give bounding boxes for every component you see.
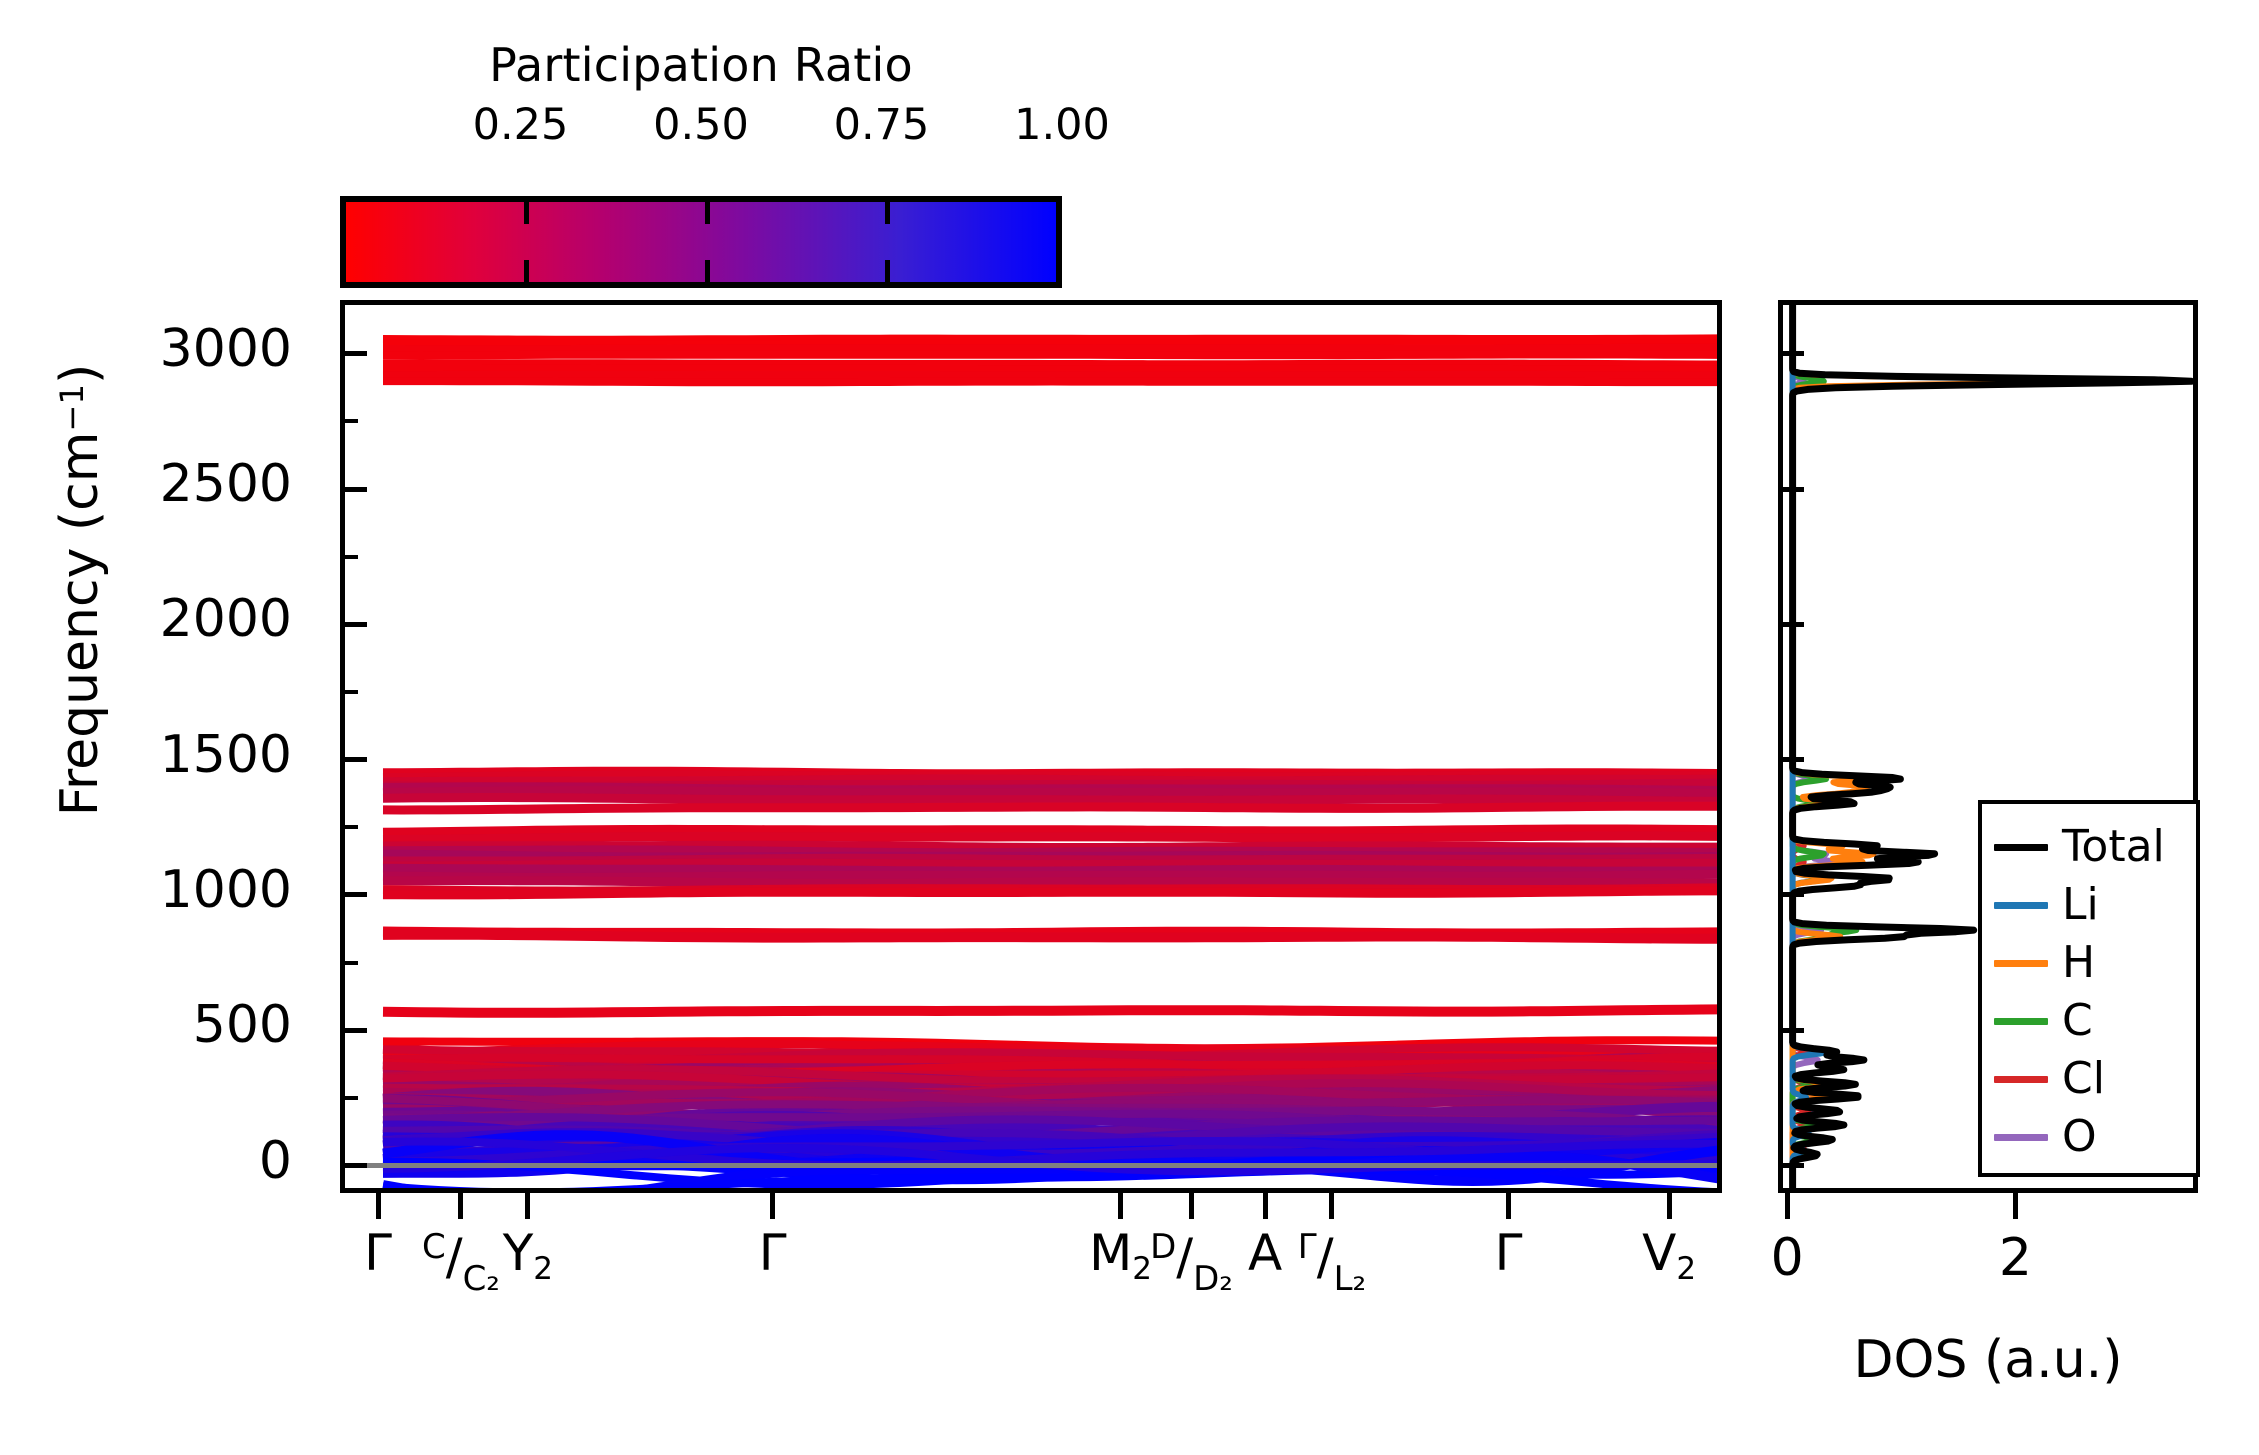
band-curve — [383, 836, 1721, 840]
dos-tick-mark — [2013, 1193, 2018, 1219]
dos-tick-label: 2 — [1999, 1228, 2032, 1288]
figure-canvas: Participation Ratio 0.250.500.751.00 050… — [0, 0, 2259, 1455]
kpath-tick-label: C/C₂ — [422, 1228, 500, 1282]
kpath-tick-mark — [1329, 1193, 1334, 1219]
dos-tick-marks — [1778, 1193, 2198, 1223]
band-curve — [383, 829, 1721, 832]
frequency-tick-label: 2500 — [160, 454, 292, 514]
dos-frequency-tick — [1782, 1028, 1804, 1033]
frequency-tick-mark — [345, 757, 367, 762]
legend-label: Li — [2062, 883, 2099, 927]
frequency-tick-mark — [345, 1163, 367, 1168]
kpath-tick-label: M2 — [1089, 1228, 1152, 1278]
frequency-minor-tick — [345, 419, 358, 423]
colorbar-tick-labels: 0.250.500.751.00 — [340, 100, 1062, 150]
kpath-tick-label: Y2 — [503, 1228, 553, 1278]
band-curve — [383, 375, 1721, 376]
band-curve — [383, 891, 1721, 895]
frequency-minor-tick — [345, 690, 358, 694]
legend-swatch-c — [1994, 1018, 2048, 1025]
dos-legend: TotalLiHCClO — [1978, 800, 2200, 1177]
legend-swatch-o — [1994, 1134, 2048, 1141]
band-curve — [383, 868, 1721, 871]
kpath-tick-label: A — [1248, 1228, 1282, 1278]
frequency-tick-label: 500 — [193, 995, 292, 1055]
dos-tick-labels: 02 — [1778, 1228, 2198, 1298]
dos-tick-label: 0 — [1771, 1228, 1804, 1288]
frequency-minor-tick — [345, 1096, 358, 1100]
dos-frequency-tick — [1782, 351, 1804, 356]
colorbar-tick — [524, 202, 529, 224]
kpath-tick-mark — [1667, 1193, 1672, 1219]
phonon-band-structure-panel — [340, 300, 1722, 1193]
band-curve — [383, 791, 1721, 794]
kpath-tick-marks — [340, 1193, 1722, 1223]
legend-item-total[interactable]: Total — [1982, 818, 2196, 876]
colorbar-tick-label: 0.75 — [834, 100, 930, 150]
colorbar-frame — [340, 196, 1062, 288]
frequency-tick-mark — [345, 487, 367, 492]
band-curve — [383, 381, 1721, 382]
frequency-tick-mark — [345, 622, 367, 627]
legend-label: H — [2062, 941, 2095, 985]
band-curve — [383, 363, 1721, 364]
frequency-tick-mark — [345, 1028, 367, 1033]
legend-item-cl[interactable]: Cl — [1982, 1050, 2196, 1108]
frequency-minor-tick — [345, 555, 358, 559]
kpath-tick-label: Γ — [759, 1228, 787, 1278]
participation-ratio-colorbar — [340, 196, 1062, 288]
colorbar-tick-label: 0.25 — [473, 100, 569, 150]
frequency-minor-tick — [345, 825, 358, 829]
kpath-tick-mark — [1189, 1193, 1194, 1219]
kpath-tick-mark — [770, 1193, 775, 1219]
legend-item-li[interactable]: Li — [1982, 876, 2196, 934]
kpath-tick-mark — [1118, 1193, 1123, 1219]
legend-label: Cl — [2062, 1057, 2105, 1101]
legend-item-o[interactable]: O — [1982, 1108, 2196, 1166]
frequency-tick-mark — [345, 892, 367, 897]
colorbar-tick-label: 1.00 — [1014, 100, 1110, 150]
band-curve — [383, 806, 1721, 810]
band-curve — [383, 355, 1721, 356]
kpath-tick-mark — [458, 1193, 463, 1219]
band-curve — [383, 798, 1721, 802]
frequency-axis-title: Frequency (cm−1) — [50, 240, 110, 940]
kpath-tick-mark — [376, 1193, 381, 1219]
kpath-tick-label: Γ — [364, 1228, 392, 1278]
dos-frequency-tick — [1782, 487, 1804, 492]
kpath-tick-mark — [1263, 1193, 1268, 1219]
colorbar-tick — [885, 260, 890, 282]
colorbar-tick — [705, 202, 710, 224]
dos-tick-mark — [1785, 1193, 1790, 1219]
legend-item-h[interactable]: H — [1982, 934, 2196, 992]
band-curve — [383, 935, 1721, 939]
band-curve — [383, 343, 1721, 344]
frequency-minor-tick — [345, 961, 358, 965]
colorbar-title: Participation Ratio — [340, 38, 1062, 92]
frequency-axis-tick-labels: 050010001500200025003000 — [0, 300, 310, 1193]
legend-swatch-cl — [1994, 1076, 2048, 1083]
kpath-tick-label: V2 — [1642, 1228, 1696, 1278]
kpath-tick-mark — [525, 1193, 530, 1219]
colorbar-tick — [885, 202, 890, 224]
kpath-tick-label: Γ/L₂ — [1298, 1228, 1366, 1282]
band-plot-area — [345, 305, 1717, 1188]
frequency-tick-label: 1500 — [160, 725, 292, 785]
band-curve — [383, 368, 1721, 370]
legend-label: Total — [2062, 825, 2165, 869]
legend-swatch-li — [1994, 902, 2048, 909]
colorbar-tick — [705, 260, 710, 282]
frequency-tick-label: 2000 — [160, 589, 292, 649]
legend-swatch-total — [1994, 844, 2048, 851]
kpath-tick-label: D/D₂ — [1150, 1228, 1233, 1282]
legend-label: O — [2062, 1115, 2097, 1159]
kpath-tick-labels: ΓC/C₂Y2ΓM2D/D₂AΓ/L₂ΓV2 — [340, 1228, 1722, 1338]
kpath-tick-label: Γ — [1495, 1228, 1523, 1278]
frequency-tick-label: 0 — [259, 1131, 292, 1191]
kpath-tick-mark — [1506, 1193, 1511, 1219]
dos-axis-title: DOS (a.u.) — [1778, 1330, 2198, 1390]
frequency-tick-label: 3000 — [160, 319, 292, 379]
legend-swatch-h — [1994, 960, 2048, 967]
band-curve — [383, 881, 1721, 884]
colorbar-tick — [524, 260, 529, 282]
band-curve — [383, 1009, 1721, 1013]
dos-frequency-tick — [1782, 1163, 1804, 1168]
frequency-tick-label: 1000 — [160, 860, 292, 920]
dos-frequency-tick — [1782, 757, 1804, 762]
legend-label: C — [2062, 999, 2093, 1043]
band-dispersion-curves — [345, 305, 1722, 1193]
dos-frequency-tick — [1782, 892, 1804, 897]
legend-item-c[interactable]: C — [1982, 992, 2196, 1050]
zero-frequency-line — [345, 1163, 1717, 1168]
colorbar-gradient — [346, 202, 1056, 282]
frequency-tick-mark — [345, 351, 367, 356]
colorbar-tick-label: 0.50 — [653, 100, 749, 150]
dos-frequency-tick — [1782, 622, 1804, 627]
band-curve — [383, 348, 1721, 350]
